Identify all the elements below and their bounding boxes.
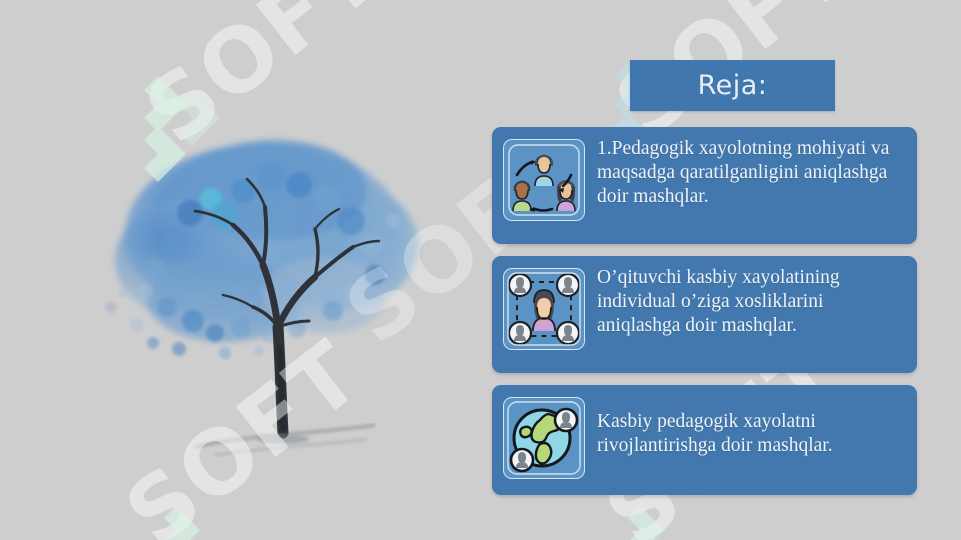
list-item[interactable]: 1.Pedagogik xayolotning mohiyati va maqs…	[492, 127, 917, 244]
globe-people-icon	[503, 397, 585, 479]
list-item[interactable]: Kasbiy pedagogik xayolatni rivojlantiris…	[492, 385, 917, 495]
page-title: Reja:	[698, 70, 768, 101]
people-collaboration-icon	[503, 139, 585, 221]
content-column: Reja:	[492, 0, 917, 540]
list-item[interactable]: O’qituvchi kasbiy xayolatining individua…	[492, 256, 917, 373]
list-item-text: O’qituvchi kasbiy xayolatining individua…	[585, 256, 917, 337]
tree-artwork	[75, 95, 445, 465]
slide-title-box: Reja:	[630, 60, 835, 111]
watermark-logo-icon	[160, 500, 220, 540]
list-item-text: Kasbiy pedagogik xayolatni rivojlantiris…	[585, 385, 917, 458]
list-item-text: 1.Pedagogik xayolotning mohiyati va maqs…	[585, 127, 917, 208]
slide-canvas: SOFT SOFT SOFT SOFT SOFT	[0, 0, 961, 540]
individual-in-group-icon	[503, 268, 585, 350]
